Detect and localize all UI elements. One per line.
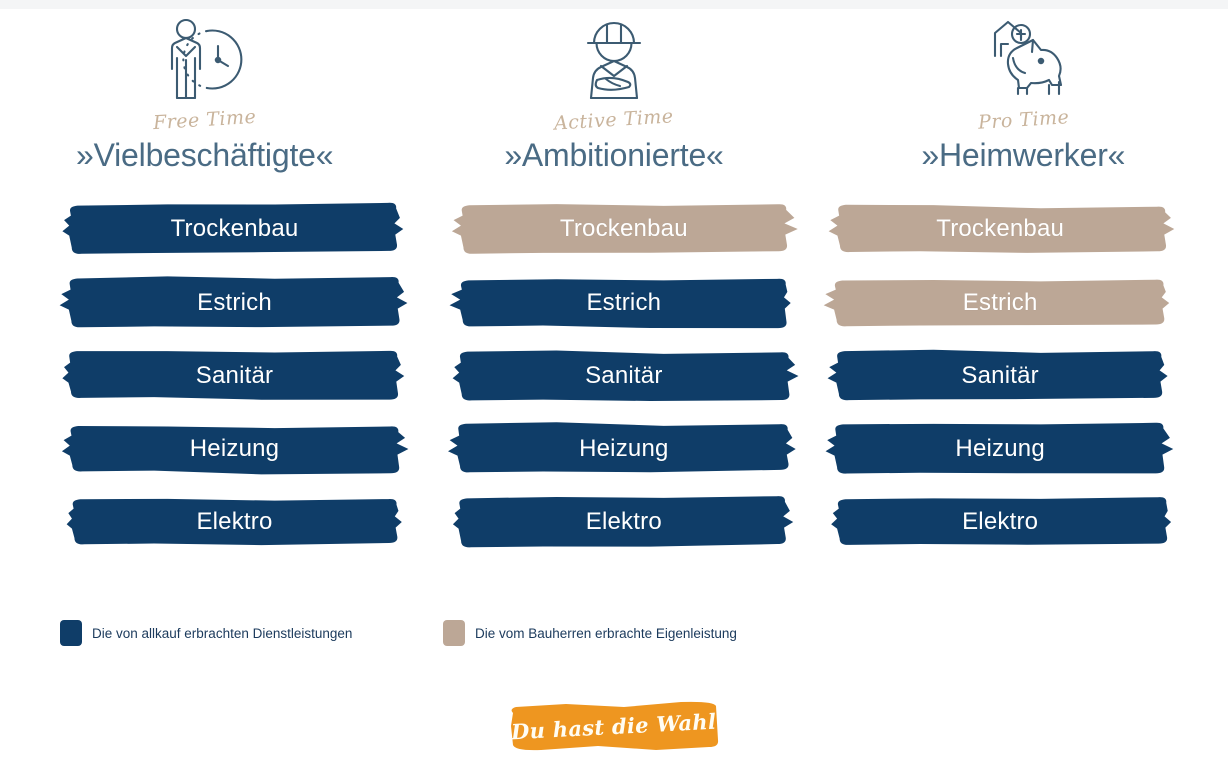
- column-title: »Vielbeschäftigte«: [76, 137, 333, 174]
- du-hast-die-wahl-badge[interactable]: Du hast die Wahl: [506, 700, 722, 752]
- service-bar-label: Trockenbau: [936, 215, 1064, 243]
- service-bar-label: Sanitär: [196, 362, 273, 390]
- service-bar-label: Elektro: [196, 508, 272, 536]
- service-bar[interactable]: Sanitär: [57, 345, 412, 407]
- column-title: »Ambitionierte«: [504, 137, 723, 174]
- package-column-active-time: Active Time »Ambitionierte« TrockenbauEs…: [409, 0, 818, 600]
- service-bar-label: Heizung: [579, 435, 668, 463]
- service-bar-label: Sanitär: [585, 362, 662, 390]
- service-bar-label: Heizung: [190, 435, 279, 463]
- legend-swatch-owner: [443, 620, 465, 646]
- column-title: »Heimwerker«: [921, 137, 1125, 174]
- service-bar-label: Estrich: [963, 289, 1038, 317]
- service-bar[interactable]: Estrich: [446, 272, 801, 334]
- legend-label-service: Die von allkauf erbrachten Dienstleistun…: [92, 626, 352, 641]
- legend-label-owner: Die vom Bauherren erbrachte Eigenleistun…: [475, 626, 737, 641]
- column-header: Free Time »Vielbeschäftigte«: [0, 0, 409, 174]
- column-header: Pro Time »Heimwerker«: [819, 0, 1228, 174]
- service-bar-label: Elektro: [962, 508, 1038, 536]
- legend: Die von allkauf erbrachten Dienstleistun…: [0, 620, 1228, 654]
- service-bar[interactable]: Heizung: [446, 418, 801, 480]
- service-bar[interactable]: Trockenbau: [446, 198, 801, 260]
- package-column-pro-time: Pro Time »Heimwerker« TrockenbauEstrichS…: [819, 0, 1228, 600]
- column-bars: TrockenbauEstrichSanitärHeizungElektro: [409, 198, 818, 558]
- service-bar-label: Sanitär: [961, 362, 1038, 390]
- legend-item-owner: Die vom Bauherren erbrachte Eigenleistun…: [443, 620, 737, 646]
- column-script-label: Pro Time: [977, 106, 1070, 134]
- service-bar-label: Estrich: [197, 289, 272, 317]
- worker-with-helmet-icon: [559, 12, 669, 107]
- service-bar-label: Trockenbau: [560, 215, 688, 243]
- service-bar[interactable]: Heizung: [823, 418, 1178, 480]
- badge-container: Du hast die Wahl: [0, 700, 1228, 752]
- column-header: Active Time »Ambitionierte«: [409, 0, 818, 174]
- service-bar-label: Elektro: [586, 508, 662, 536]
- service-bar[interactable]: Elektro: [57, 491, 412, 553]
- service-bar-label: Estrich: [586, 289, 661, 317]
- service-bar[interactable]: Heizung: [57, 418, 412, 480]
- service-bar-label: Trockenbau: [171, 215, 299, 243]
- column-bars: TrockenbauEstrichSanitärHeizungElektro: [0, 198, 409, 558]
- service-bar[interactable]: Sanitär: [446, 345, 801, 407]
- package-column-free-time: Free Time »Vielbeschäftigte« TrockenbauE…: [0, 0, 409, 600]
- service-bar[interactable]: Elektro: [823, 491, 1178, 553]
- service-bar[interactable]: Estrich: [823, 272, 1178, 334]
- service-bar[interactable]: Trockenbau: [57, 198, 412, 260]
- column-script-label: Free Time: [152, 106, 256, 134]
- legend-item-service: Die von allkauf erbrachten Dienstleistun…: [60, 620, 352, 646]
- column-bars: TrockenbauEstrichSanitärHeizungElektro: [819, 198, 1228, 558]
- infographic-stage: Free Time »Vielbeschäftigte« TrockenbauE…: [0, 0, 1228, 783]
- service-bar[interactable]: Trockenbau: [823, 198, 1178, 260]
- service-bar[interactable]: Elektro: [446, 491, 801, 553]
- package-columns: Free Time »Vielbeschäftigte« TrockenbauE…: [0, 0, 1228, 600]
- service-bar[interactable]: Estrich: [57, 272, 412, 334]
- legend-swatch-service: [60, 620, 82, 646]
- column-script-label: Active Time: [554, 105, 675, 134]
- service-bar[interactable]: Sanitär: [823, 345, 1178, 407]
- service-bar-label: Heizung: [955, 435, 1044, 463]
- piggy-bank-icon: [968, 12, 1078, 107]
- person-with-clock-icon: [150, 12, 260, 107]
